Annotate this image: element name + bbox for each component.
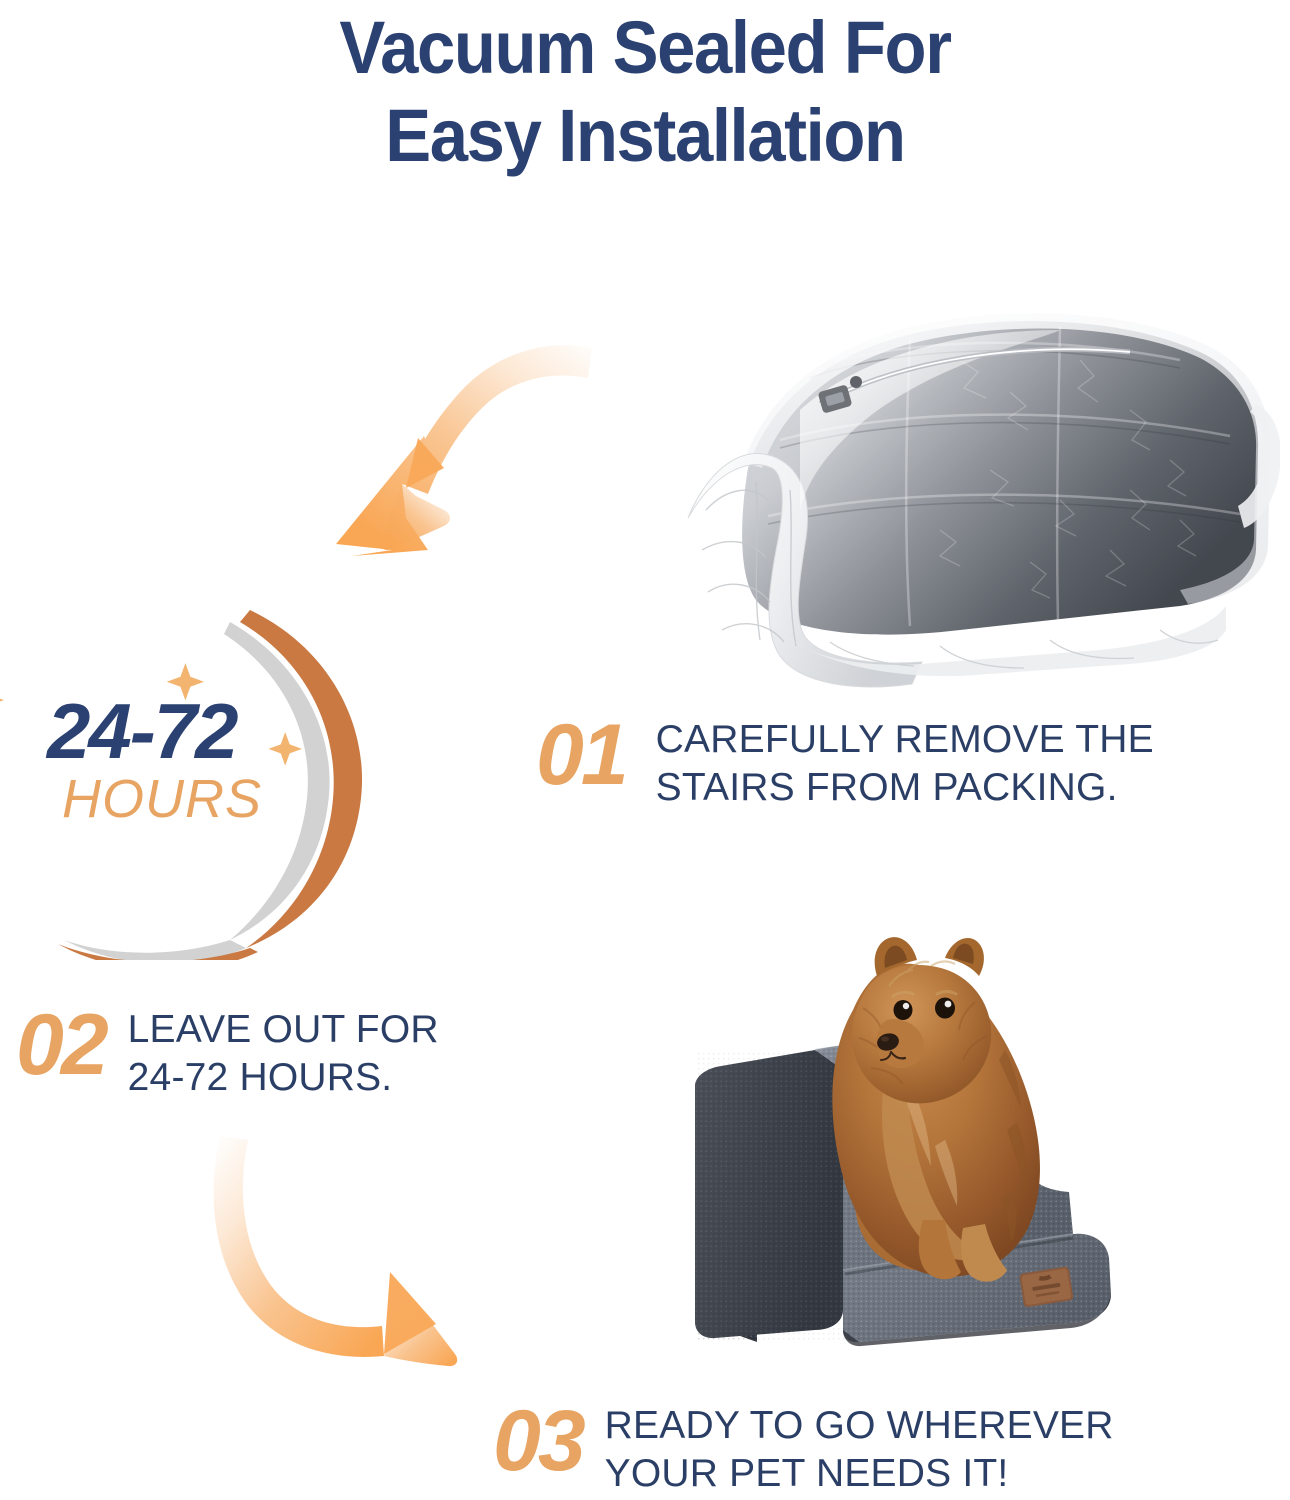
pomeranian-dog — [832, 937, 1040, 1282]
step-02-text: LEAVE OUT FOR 24-72 HOURS. — [128, 1002, 439, 1102]
step-01-text: CAREFULLY REMOVE THE STAIRS FROM PACKING… — [656, 712, 1154, 812]
page-title: Vacuum Sealed For Easy Installation — [0, 4, 1290, 180]
curved-arrow-down-right-icon — [198, 1128, 518, 1383]
badge-duration-unit: HOURS — [62, 772, 262, 826]
title-line-1: Vacuum Sealed For — [45, 4, 1245, 92]
sparkle-star-icon — [268, 732, 302, 766]
vacuum-sealed-package-photo — [660, 300, 1280, 695]
step-03-number: 03 — [493, 1398, 583, 1484]
sparkle-star-icon — [0, 686, 4, 714]
step-01-number: 01 — [536, 712, 626, 798]
title-line-2: Easy Installation — [45, 92, 1245, 180]
badge-duration-number: 24-72 — [47, 692, 237, 770]
curved-arrow-down-left-icon — [296, 318, 596, 573]
step-02-number: 02 — [16, 1002, 106, 1088]
dog-on-pet-stairs-photo — [645, 890, 1125, 1375]
infographic-page: Vacuum Sealed For Easy Installation — [0, 0, 1290, 1500]
step-02: 02 LEAVE OUT FOR 24-72 HOURS. — [16, 1002, 439, 1102]
step-03: 03 READY TO GO WHEREVER YOUR PET NEEDS I… — [493, 1398, 1114, 1498]
step-03-text: READY TO GO WHEREVER YOUR PET NEEDS IT! — [605, 1398, 1114, 1498]
step-01: 01 CAREFULLY REMOVE THE STAIRS FROM PACK… — [536, 712, 1154, 812]
